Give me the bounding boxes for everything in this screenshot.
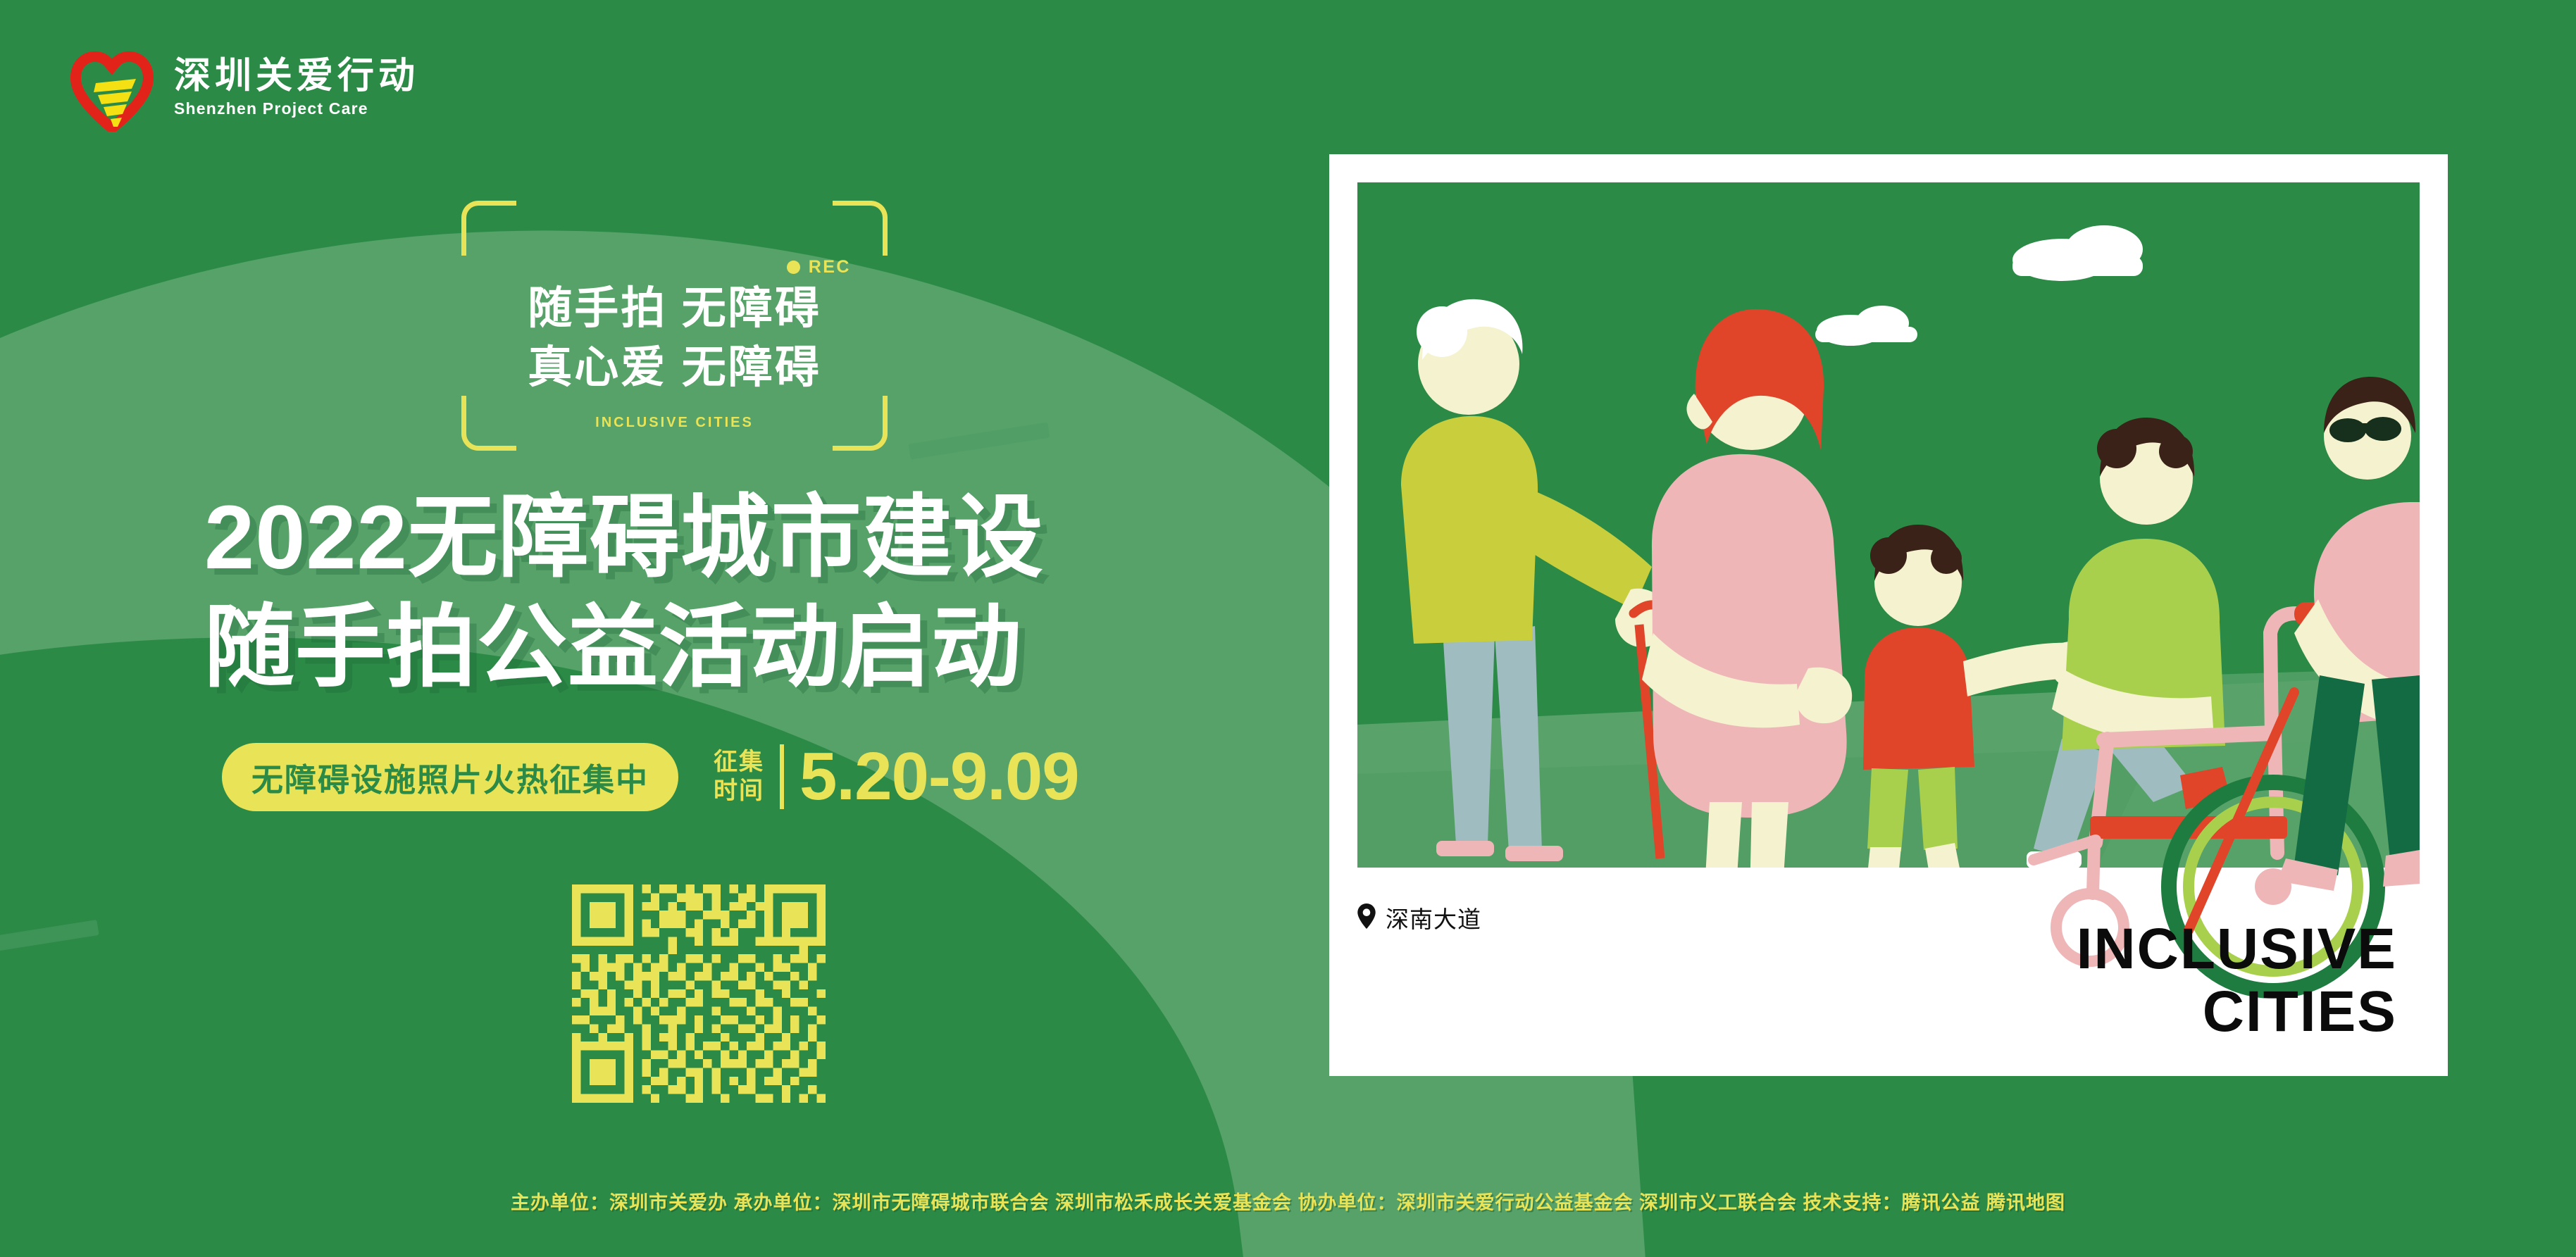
rec-label: REC [809,257,851,277]
headline-line-2: 随手拍公益活动启动 [204,593,1044,703]
brand-name-en: Shenzhen Project Care [174,99,419,118]
rec-dot-icon [787,261,800,274]
brand-logo: 深圳关爱行动 Shenzhen Project Care [67,44,419,132]
camera-frame-slogan: REC 随手拍 无障碍 真心爱 无障碍 INCLUSIVE CITIES [461,201,888,451]
slogan-line-2: 真心爱 无障碍 [461,339,888,398]
frame-corner-top-right [833,201,888,256]
illustration-panel: 深南大道 INCLUSIVE CITIES [1329,154,2448,1076]
date-label-line-1: 征集 [714,748,764,777]
date-label: 征集 时间 [714,748,764,806]
slogan-block: 随手拍 无障碍 真心爱 无障碍 [461,280,888,398]
heart-ribbon-logo-icon [67,44,158,132]
location-label: 深南大道 [1386,901,1481,934]
slogan-line-1: 随手拍 无障碍 [461,280,888,339]
callout-row: 无障碍设施照片火热征集中 征集 时间 5.20-9.09 [222,738,1079,815]
collection-pill: 无障碍设施照片火热征集中 [222,743,678,811]
illustration-artwork [1357,182,2420,868]
date-label-line-2: 时间 [714,777,764,806]
panel-title-line-2: CITIES [2077,981,2397,1044]
headline-line-1: 2022无障碍城市建设 [204,483,1044,593]
frame-corner-top-left [461,201,516,256]
brand-name-cn: 深圳关爱行动 [174,57,419,96]
qr-code-icon[interactable] [572,884,826,1103]
date-value: 5.20-9.09 [799,738,1079,815]
panel-title-line-1: INCLUSIVE [2077,918,2397,981]
date-divider [780,744,784,809]
poster-root: 深圳关爱行动 Shenzhen Project Care REC 随手拍 无障碍… [0,0,2576,1257]
map-pin-icon [1357,903,1376,932]
panel-title: INCLUSIVE CITIES [2077,918,2397,1043]
camera-subtitle: INCLUSIVE CITIES [461,415,888,431]
rec-indicator: REC [787,257,851,277]
headline-block: 2022无障碍城市建设 随手拍公益活动启动 [204,483,1044,703]
footer-credits: 主办单位：深圳市关爱办 承办单位：深圳市无障碍城市联合会 深圳市松禾成长关爱基金… [0,1187,2576,1215]
location-tag: 深南大道 [1357,901,1481,934]
collection-date: 征集 时间 5.20-9.09 [714,738,1079,815]
